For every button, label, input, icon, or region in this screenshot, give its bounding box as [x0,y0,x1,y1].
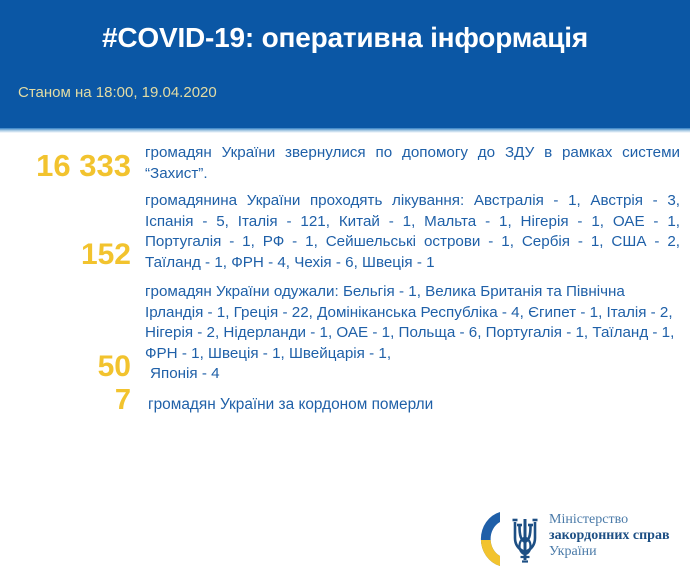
stat-text-recovered-tail: Японія - 4 [145,364,680,385]
ministry-logo: Міністерство закордонних справ України [470,506,682,570]
stat-text-recovered-main: громадян України одужали: Бельгія - 1, В… [145,283,674,362]
ministry-logo-text: Міністерство закордонних справ України [549,512,670,560]
mfa-emblem-icon [470,508,548,570]
stat-text-treatment: громадянина України проходять лікування:… [131,191,690,273]
timestamp-subtitle: Станом на 18:00, 19.04.2020 [18,84,217,101]
stat-text-requests: громадян України звернулися по допомогу … [131,143,690,184]
stat-text-deceased: громадян України за кордоном померли [131,395,690,416]
page-title: #COVID-19: оперативна інформація [0,22,690,54]
stat-number-deceased: 7 [0,386,131,416]
header-banner: #COVID-19: оперативна інформація Станом … [0,0,690,128]
stat-number-treatment: 152 [0,240,131,273]
stat-number-requests: 16 333 [0,150,131,184]
ministry-logo-line-3: України [549,544,670,560]
ministry-logo-line-2: закордонних справ [549,528,670,544]
statistics-list: 16 333 громадян України звернулися по до… [0,133,690,416]
stat-number-recovered: 50 [0,352,131,385]
stat-row-treatment: 152 громадянина України проходять лікува… [0,191,690,273]
stat-row-requests: 16 333 громадян України звернулися по до… [0,143,690,184]
stat-row-recovered: 50 громадян України одужали: Бельгія - 1… [0,282,690,385]
ministry-logo-line-1: Міністерство [549,512,670,528]
stat-row-deceased: 7 громадян України за кордоном померли [0,386,690,416]
stat-text-recovered: громадян України одужали: Бельгія - 1, В… [131,282,690,385]
